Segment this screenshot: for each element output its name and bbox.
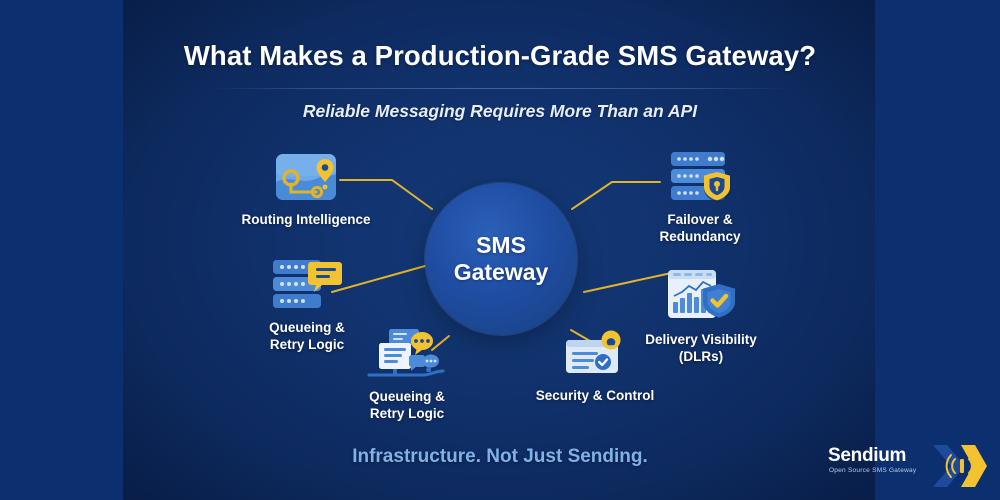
page-title: What Makes a Production-Grade SMS Gatewa… [0, 40, 1000, 72]
node-security-control[interactable]: Security & Control [524, 330, 666, 404]
route-map-icon [272, 152, 340, 204]
node-failover-redundancy[interactable]: Failover & Redundancy [624, 150, 776, 246]
hub-label-line1: SMS [476, 232, 526, 258]
server-shield-icon [665, 150, 735, 204]
signal-chevron-icon [931, 441, 989, 491]
node-label: Security & Control [536, 387, 655, 404]
hub-label: SMS Gateway [454, 232, 549, 286]
node-label: Queueing & Retry Logic [269, 319, 345, 354]
brand-subtitle: Open Source SMS Gateway [829, 467, 916, 474]
node-routing-intelligence[interactable]: Routing Intelligence [232, 152, 380, 228]
node-label: Queueing & Retry Logic [369, 388, 445, 423]
letterbox-bar-left [0, 0, 123, 500]
node-label: Failover & Redundancy [659, 211, 740, 246]
page-subtitle: Reliable Messaging Requires More Than an… [0, 101, 1000, 122]
dashboard-shield-icon [665, 268, 737, 324]
brand-name: Sendium [828, 445, 906, 467]
node-queueing-retry-left[interactable]: Queueing & Retry Logic [244, 258, 370, 354]
hub-node: SMS Gateway [425, 183, 577, 335]
document-check-icon [563, 330, 627, 380]
letterbox-bar-right [875, 0, 1000, 500]
infographic-canvas: What Makes a Production-Grade SMS Gatewa… [0, 0, 1000, 500]
hub-label-line2: Gateway [454, 259, 549, 285]
server-stack-chat-icon [271, 258, 343, 312]
brand-logo[interactable]: Sendium Open Source SMS Gateway [828, 443, 988, 491]
header-divider [210, 88, 790, 89]
server-chat-icon [365, 325, 449, 381]
node-label: Routing Intelligence [241, 211, 370, 228]
